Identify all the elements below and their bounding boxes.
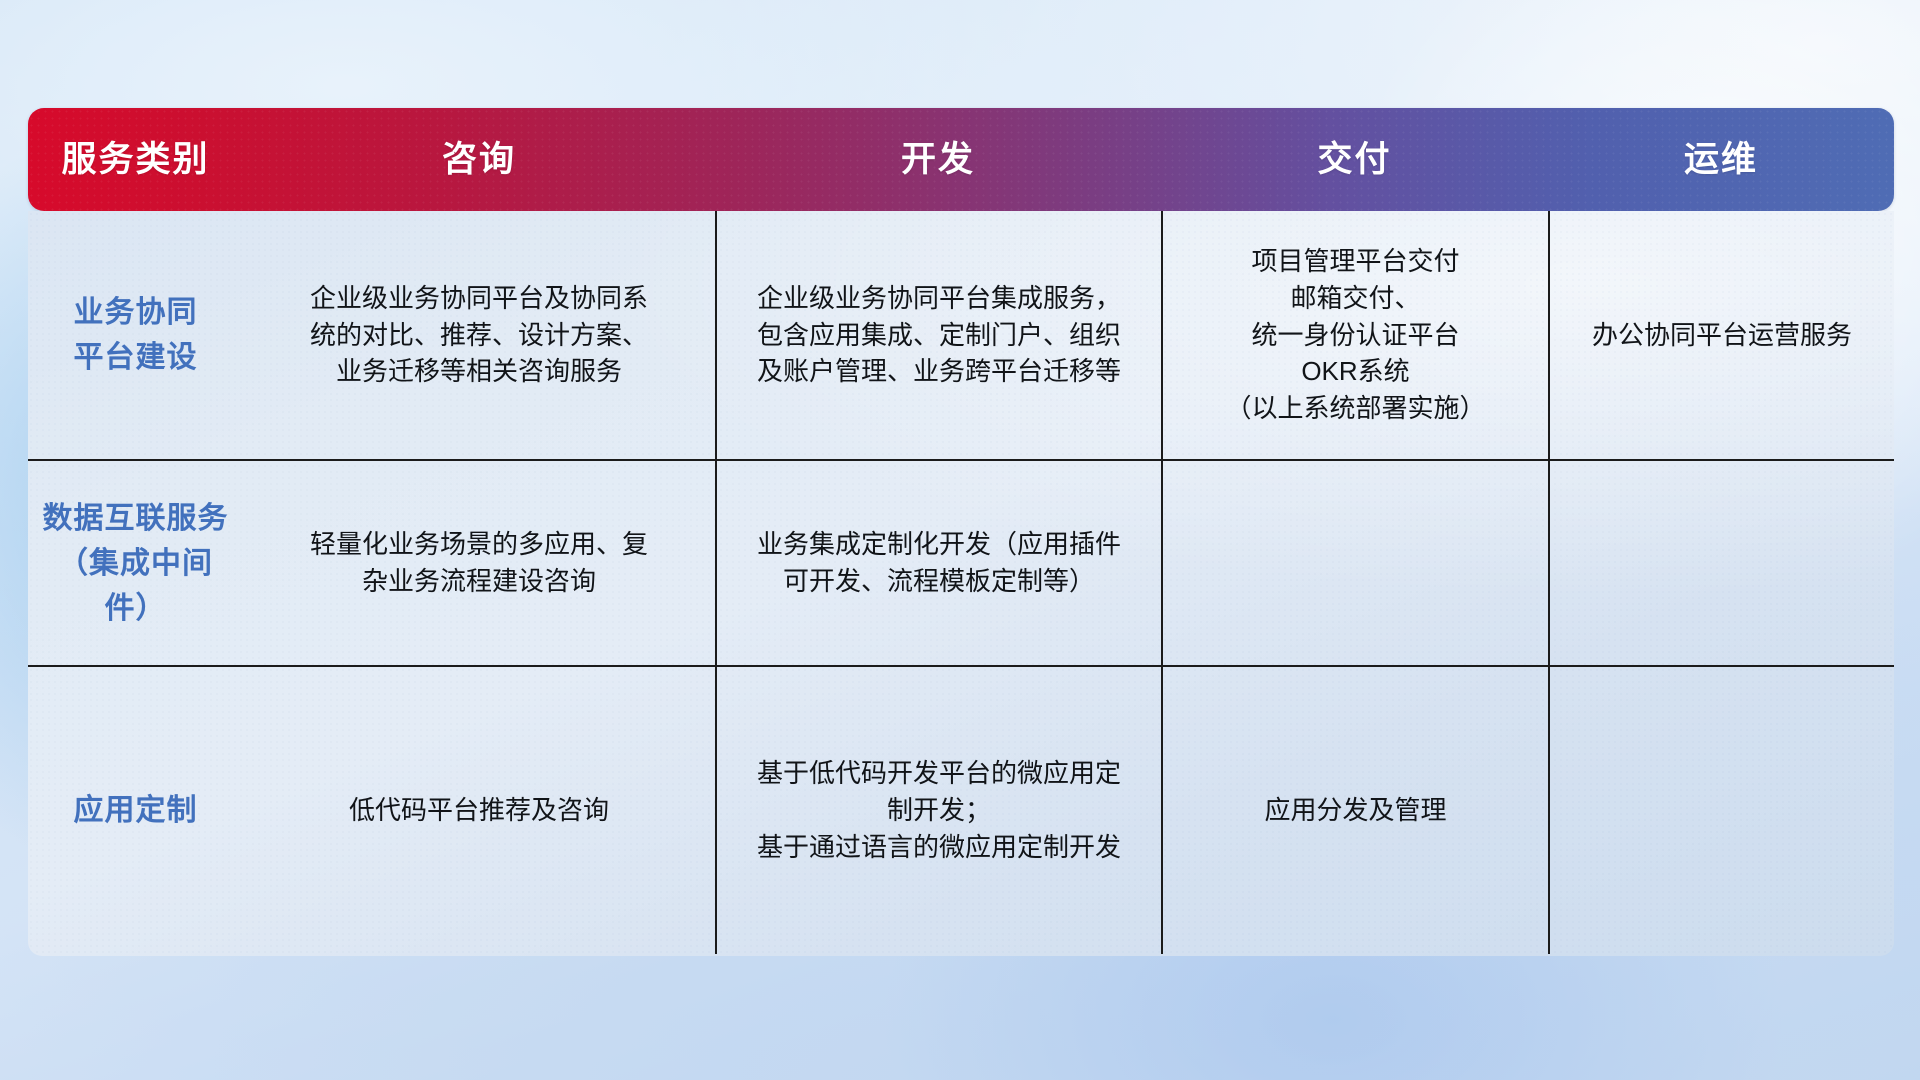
table-body: 业务协同 平台建设 企业级业务协同平台及协同系 统的对比、推荐、设计方案、 业务… — [28, 211, 1894, 956]
cell-delivery: 项目管理平台交付 邮箱交付、 统一身份认证平台 OKR系统 （以上系统部署实施） — [1161, 211, 1548, 459]
cell-category: 数据互联服务 （集成中间件） — [28, 461, 243, 665]
table-row: 应用定制 低代码平台推荐及咨询 基于低代码开发平台的微应用定 制开发； 基于通过… — [28, 665, 1894, 954]
cell-operations — [1548, 667, 1894, 954]
cell-consulting: 轻量化业务场景的多应用、复 杂业务流程建设咨询 — [243, 461, 715, 665]
cell-delivery: 应用分发及管理 — [1161, 667, 1548, 954]
cell-consulting: 低代码平台推荐及咨询 — [243, 667, 715, 954]
column-header-delivery: 交付 — [1161, 142, 1548, 177]
service-matrix-table: 服务类别 咨询 开发 交付 运维 业务协同 平台建设 企业级业务协同平台及协同系… — [28, 108, 1894, 956]
column-header-development: 开发 — [715, 142, 1161, 177]
cell-development: 企业级业务协同平台集成服务， 包含应用集成、定制门户、组织 及账户管理、业务跨平… — [715, 211, 1161, 459]
cell-development: 基于低代码开发平台的微应用定 制开发； 基于通过语言的微应用定制开发 — [715, 667, 1161, 954]
column-header-operations: 运维 — [1548, 142, 1894, 177]
cell-consulting: 企业级业务协同平台及协同系 统的对比、推荐、设计方案、 业务迁移等相关咨询服务 — [243, 211, 715, 459]
cell-development: 业务集成定制化开发（应用插件 可开发、流程模板定制等） — [715, 461, 1161, 665]
table-row: 业务协同 平台建设 企业级业务协同平台及协同系 统的对比、推荐、设计方案、 业务… — [28, 211, 1894, 459]
column-header-category: 服务类别 — [28, 142, 243, 177]
cell-operations — [1548, 461, 1894, 665]
cell-delivery — [1161, 461, 1548, 665]
column-header-consulting: 咨询 — [243, 142, 715, 177]
cell-operations: 办公协同平台运营服务 — [1548, 211, 1894, 459]
cell-category: 应用定制 — [28, 667, 243, 954]
table-header-row: 服务类别 咨询 开发 交付 运维 — [28, 108, 1894, 211]
table-row: 数据互联服务 （集成中间件） 轻量化业务场景的多应用、复 杂业务流程建设咨询 业… — [28, 459, 1894, 665]
cell-category: 业务协同 平台建设 — [28, 211, 243, 459]
